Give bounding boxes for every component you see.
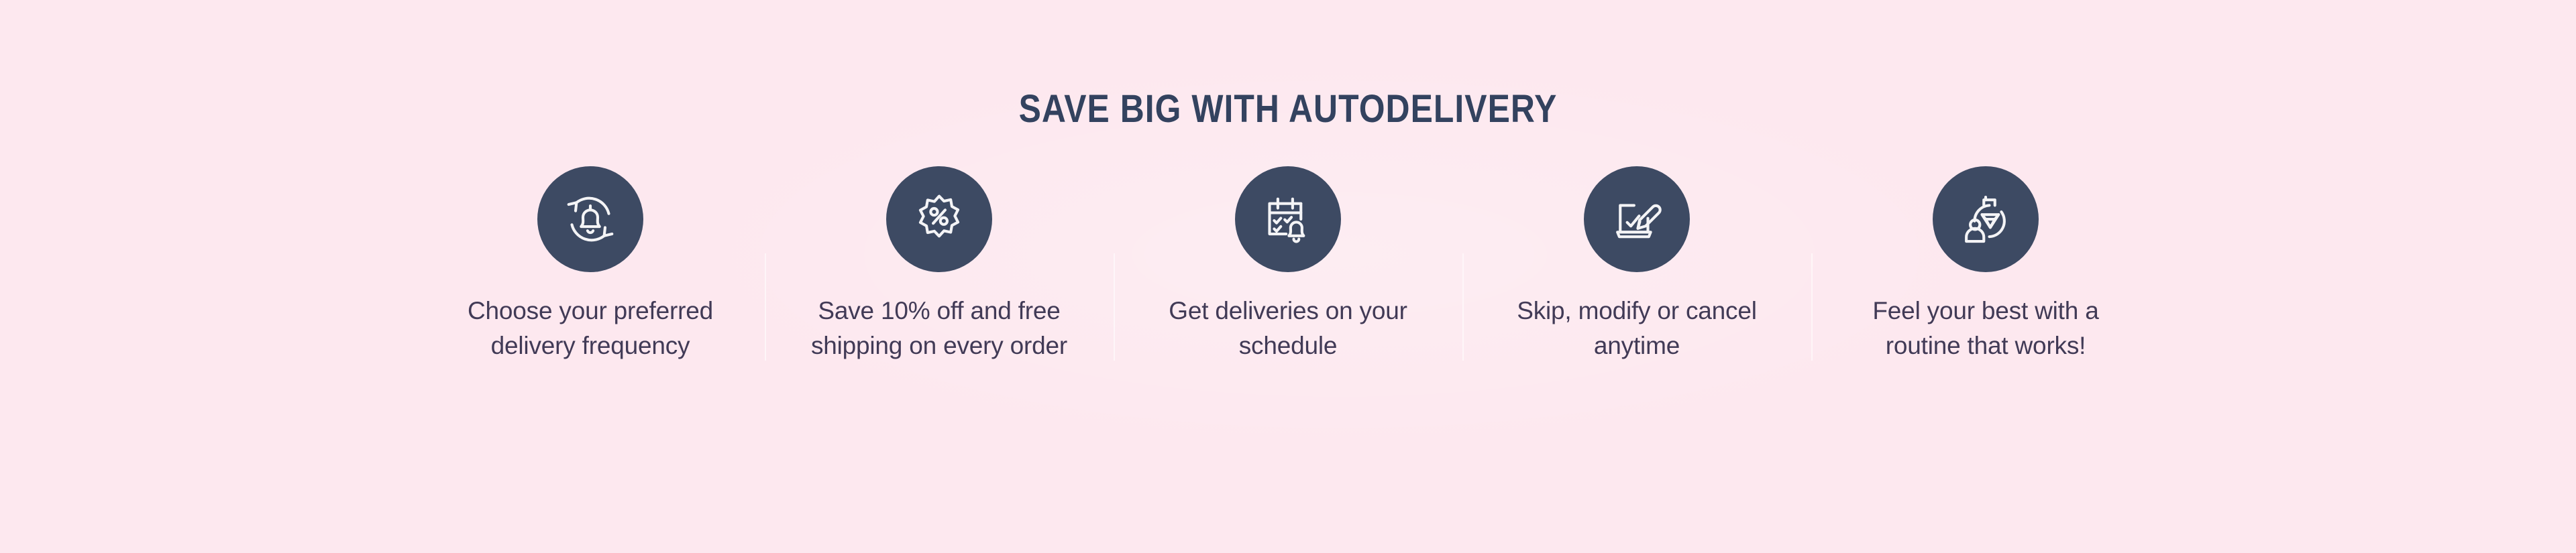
feature-caption: Get deliveries on your schedule [1144, 294, 1432, 363]
feature-item-modify[interactable]: Skip, modify or cancel anytime [1462, 166, 1811, 363]
percent-badge-icon [886, 166, 992, 272]
edit-checkbox-icon [1584, 166, 1690, 272]
feature-caption: Feel your best with a routine that works… [1841, 294, 2130, 363]
feature-item-discount[interactable]: Save 10% off and free shipping on every … [765, 166, 1114, 363]
feature-item-frequency[interactable]: Choose your preferred delivery frequency [416, 166, 765, 363]
feature-item-schedule[interactable]: Get deliveries on your schedule [1114, 166, 1462, 363]
autodelivery-banner: SAVE BIG WITH AUTODELIVERY Choose your p… [0, 0, 2576, 553]
feature-caption: Choose your preferred delivery frequency [446, 294, 735, 363]
feature-item-routine[interactable]: Feel your best with a routine that works… [1811, 166, 2160, 363]
calendar-bell-icon [1235, 166, 1341, 272]
feature-columns: Choose your preferred delivery frequency… [416, 166, 2160, 363]
feature-caption: Save 10% off and free shipping on every … [795, 294, 1083, 363]
feature-caption: Skip, modify or cancel anytime [1493, 294, 1781, 363]
page-title: SAVE BIG WITH AUTODELIVERY [180, 88, 2396, 130]
bell-refresh-icon [537, 166, 643, 272]
person-gem-timer-icon [1933, 166, 2039, 272]
